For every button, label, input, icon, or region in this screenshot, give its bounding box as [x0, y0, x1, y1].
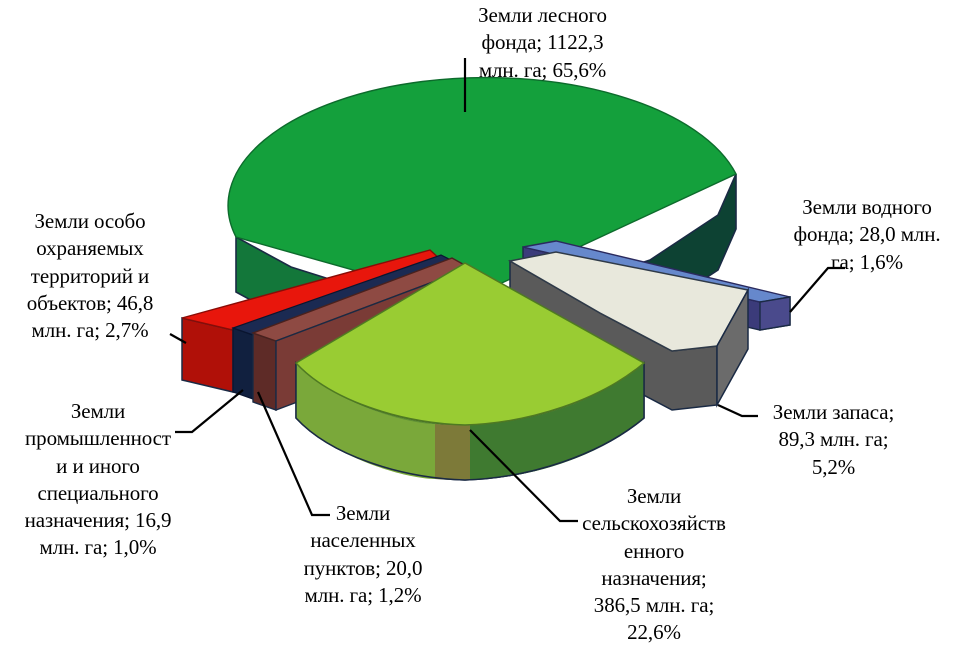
slice-protected-wall: [182, 318, 233, 392]
slice-water-end: [760, 297, 790, 330]
slice-settlements-wall: [233, 328, 253, 399]
label-forest: Земли лесного фонда; 1122,3 млн. га; 65,…: [430, 2, 655, 84]
label-reserve: Земли запаса; 89,3 млн. га; 5,2%: [736, 399, 931, 481]
slice-agri-wall-shade-mid: [435, 424, 470, 480]
slice-industry-wall-left: [253, 333, 276, 410]
label-settlements: Земли населенных пунктов; 20,0 млн. га; …: [268, 500, 458, 609]
label-protected: Земли особо охраняемых территорий и объе…: [0, 208, 180, 344]
label-agriculture: Земли сельскохозяйств енного назначения;…: [556, 483, 752, 647]
label-industry: Земли промышленност и и иного специально…: [0, 398, 196, 562]
chart-page: Земли лесного фонда; 1122,3 млн. га; 65,…: [0, 0, 974, 660]
label-water: Земли водного фонда; 28,0 млн. га; 1,6%: [762, 194, 972, 276]
